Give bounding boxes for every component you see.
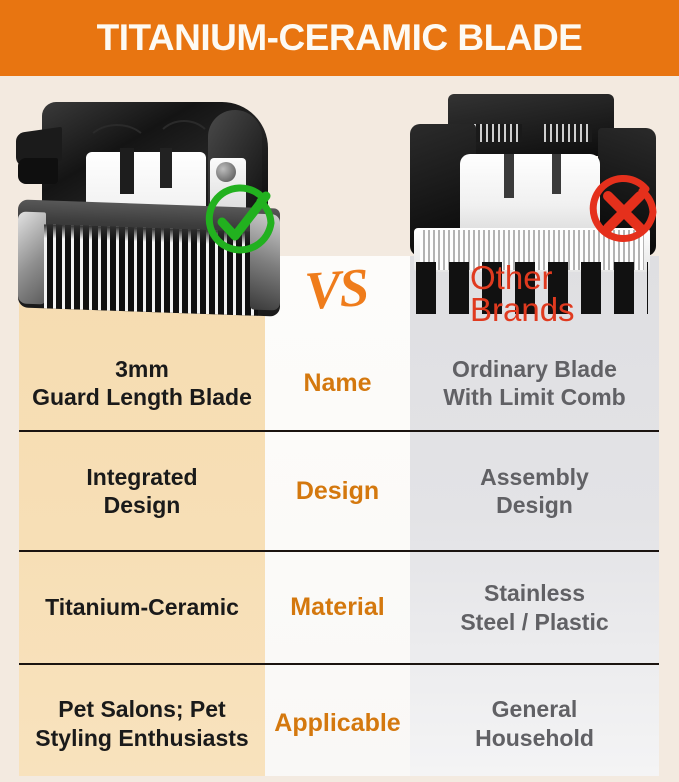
red-x-badge bbox=[586, 174, 662, 250]
blade-screw bbox=[216, 162, 236, 182]
ours-line1: Titanium-Ceramic bbox=[45, 593, 239, 621]
row-attribute-label: Applicable bbox=[265, 665, 410, 782]
versus-label: VS bbox=[286, 255, 386, 324]
blade-side-tab-lower bbox=[18, 158, 58, 184]
table-row: Pet Salons; Pet Styling Enthusiasts Appl… bbox=[19, 665, 659, 782]
ours-line1: Integrated bbox=[86, 463, 197, 491]
theirs-line2: Steel / Plastic bbox=[460, 608, 608, 636]
other-brands-line2: Brands bbox=[470, 294, 640, 326]
table-row: Integrated Design Design Assembly Design bbox=[19, 432, 659, 552]
row-ours-value: Pet Salons; Pet Styling Enthusiasts bbox=[19, 665, 265, 782]
comparison-table: 3mm Guard Length Blade Name Ordinary Bla… bbox=[19, 336, 659, 776]
theirs-line2: Household bbox=[475, 724, 594, 752]
table-row: 3mm Guard Length Blade Name Ordinary Bla… bbox=[19, 336, 659, 432]
row-attribute-label: Name bbox=[265, 336, 410, 430]
row-theirs-value: Stainless Steel / Plastic bbox=[410, 552, 659, 663]
ours-line2: Guard Length Blade bbox=[32, 383, 252, 411]
row-theirs-value: Assembly Design bbox=[410, 432, 659, 550]
ours-line2: Styling Enthusiasts bbox=[35, 724, 248, 752]
theirs-line2: Design bbox=[480, 491, 589, 519]
ours-line2: Design bbox=[86, 491, 197, 519]
theirs-line1: Ordinary Blade bbox=[443, 355, 625, 383]
header-banner: TITANIUM-CERAMIC BLADE bbox=[0, 0, 679, 76]
row-theirs-value: General Household bbox=[410, 665, 659, 782]
product-comparison-images: VS Other Brands bbox=[0, 76, 679, 336]
page-title: TITANIUM-CERAMIC BLADE bbox=[97, 17, 583, 59]
blade-comb-left-edge bbox=[18, 211, 46, 304]
theirs-line1: General bbox=[475, 695, 594, 723]
row-attribute-label: Design bbox=[265, 432, 410, 550]
other-brands-overlay: Other Brands bbox=[470, 262, 640, 326]
theirs-line1: Assembly bbox=[480, 463, 589, 491]
ours-line1: 3mm bbox=[32, 355, 252, 383]
ours-line1: Pet Salons; Pet bbox=[35, 695, 248, 723]
other-brands-line1: Other bbox=[470, 262, 640, 294]
table-row: Titanium-Ceramic Material Stainless Stee… bbox=[19, 552, 659, 665]
row-ours-value: Titanium-Ceramic bbox=[19, 552, 265, 663]
row-ours-value: Integrated Design bbox=[19, 432, 265, 550]
row-attribute-label: Material bbox=[265, 552, 410, 663]
row-theirs-value: Ordinary Blade With Limit Comb bbox=[410, 336, 659, 430]
green-check-badge bbox=[202, 183, 278, 259]
theirs-line1: Stainless bbox=[460, 579, 608, 607]
row-ours-value: 3mm Guard Length Blade bbox=[19, 336, 265, 430]
theirs-line2: With Limit Comb bbox=[443, 383, 625, 411]
